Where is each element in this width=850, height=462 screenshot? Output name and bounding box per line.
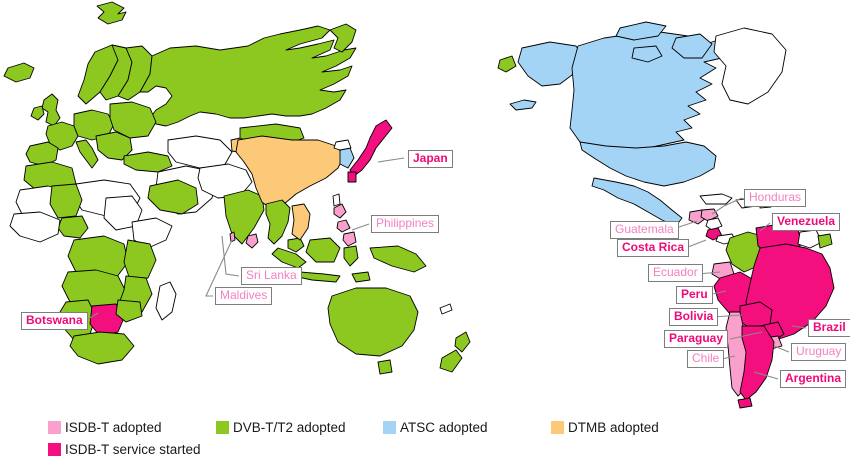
legend-swatch-dvbt-adopted [216,421,229,434]
legend-label-dvbt-adopted: DVB-T/T2 adopted [233,420,346,435]
country-tasmania [378,360,392,374]
world-map: Japan Philippines Sri Lanka Maldives Bot… [0,0,850,410]
legend-swatch-atsc-adopted [383,421,396,434]
country-central-asia [168,136,232,168]
legend-label-atsc-adopted: ATSC adopted [400,420,488,435]
country-chukotka-sliver [498,56,516,72]
country-sri-lanka [246,234,258,248]
map-label-ecuador[interactable]: Ecuador [648,264,703,282]
country-vietnam-laos [292,204,310,240]
country-south-africa [70,332,134,364]
legend-label-dtmb-adopted: DTMB adopted [568,420,659,435]
country-svalbard [97,2,126,24]
country-nigeria [58,216,88,238]
country-madagascar [156,282,176,320]
country-greenland [714,28,786,104]
legend-swatch-dtmb-adopted [551,421,564,434]
country-taiwan [333,194,340,206]
map-label-botswana[interactable]: Botswana [21,312,88,330]
country-south-korea [340,148,354,168]
legend: ISDB-T adopted DVB-T/T2 adopted ATSC ado… [0,414,850,462]
legend-item-isdbt-service-started: ISDB-T service started [48,442,201,457]
country-new-zealand-south [440,350,462,372]
country-niger-chad [50,184,82,218]
country-iceland [4,63,34,82]
legend-swatch-isdbt-adopted [48,421,61,434]
legend-item-dvbt-adopted: DVB-T/T2 adopted [216,420,346,435]
country-russia-kamchatka [330,24,356,52]
leader-uruguay [774,346,789,352]
map-label-argentina[interactable]: Argentina [780,370,846,388]
country-new-caledonia [440,304,452,314]
country-australia [328,288,418,356]
map-label-maldives[interactable]: Maldives [215,287,272,305]
legend-label-isdbt-adopted: ISDB-T adopted [65,420,162,435]
map-label-guatemala[interactable]: Guatemala [610,221,679,239]
country-ireland [31,106,44,120]
country-indonesia-timor [352,272,370,282]
country-saudi-arabia [148,180,198,214]
leader-japan [378,158,404,162]
country-russia [140,26,356,126]
country-philippines-3 [343,232,356,246]
country-turkey [124,152,172,172]
map-label-costa-rica[interactable]: Costa Rica [617,239,689,257]
country-north-korea [334,140,351,150]
country-indonesia-sumatra [272,248,306,268]
map-label-philippines[interactable]: Philippines [371,215,439,233]
country-new-zealand-north [455,332,470,352]
legend-swatch-isdbt-service-started [48,443,61,456]
country-papua-new-guinea [370,246,426,272]
country-japan [350,120,392,176]
map-label-brazil[interactable]: Brazil [808,319,850,337]
country-aleutian-islands [510,100,536,110]
world-map-svg [0,0,850,410]
map-label-uruguay[interactable]: Uruguay [791,343,846,361]
country-united-kingdom [42,94,60,126]
legend-label-isdbt-service-started: ISDB-T service started [65,442,201,457]
map-label-chile[interactable]: Chile [687,350,724,368]
country-tierra-del-fuego [738,398,752,408]
map-label-paraguay[interactable]: Paraguay [664,330,728,348]
legend-item-isdbt-adopted: ISDB-T adopted [48,420,162,435]
country-nicaragua [706,218,722,230]
legend-item-dtmb-adopted: DTMB adopted [551,420,659,435]
country-kenya-tanzania [124,240,156,280]
leader-philippines [352,224,369,230]
country-indonesia-java [298,272,340,282]
map-label-sri-lanka[interactable]: Sri Lanka [241,267,302,285]
legend-item-atsc-adopted: ATSC adopted [383,420,488,435]
country-french-guiana [818,234,832,248]
country-cuba [700,194,732,204]
map-label-peru[interactable]: Peru [676,286,713,304]
country-philippines-2 [337,220,350,232]
map-label-japan[interactable]: Japan [408,150,453,168]
country-argentina [740,326,774,400]
country-indonesia-sulawesi [344,246,358,266]
map-label-bolivia[interactable]: Bolivia [669,308,718,326]
country-indonesia-borneo [306,238,340,262]
country-italy [76,140,98,168]
map-label-venezuela[interactable]: Venezuela [772,213,840,231]
country-malaysia [288,238,304,252]
country-myanmar-thailand [266,200,290,244]
map-label-honduras[interactable]: Honduras [744,189,806,207]
country-japan-kyushu [348,172,356,182]
country-maldives [230,232,235,242]
country-philippines [334,204,346,218]
